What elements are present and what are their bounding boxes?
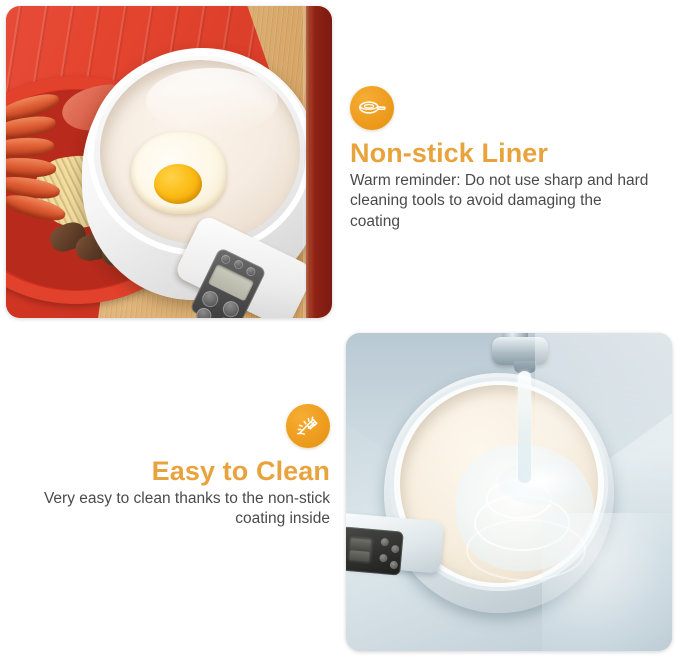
control-button	[390, 561, 399, 570]
control-button	[200, 288, 221, 309]
control-button	[391, 545, 400, 554]
sink-highlight	[535, 333, 672, 651]
control-button	[379, 554, 388, 563]
running-water-stream	[518, 371, 531, 483]
photo-nonstick-liner	[6, 6, 332, 318]
board-edge-highlight	[303, 6, 310, 318]
control-button	[380, 538, 389, 547]
product-feature-page: Non-stick Liner Warm reminder: Do not us…	[0, 0, 679, 659]
cleaning-brush-icon	[286, 404, 330, 448]
photo-easy-to-clean	[346, 333, 672, 651]
feature-block-non-stick-liner: Non-stick Liner Warm reminder: Do not us…	[350, 86, 650, 232]
frying-pan-icon	[350, 86, 394, 130]
pot-control-panel	[346, 526, 404, 575]
fried-egg-yolk	[154, 164, 202, 204]
lcd-display	[346, 535, 374, 565]
feature-description: Very easy to clean thanks to the non-sti…	[30, 489, 330, 529]
feature-title: Easy to Clean	[30, 456, 330, 486]
feature-description: Warm reminder: Do not use sharp and hard…	[350, 171, 650, 231]
control-button	[245, 266, 257, 278]
control-button	[233, 259, 245, 271]
control-button	[220, 299, 241, 318]
feature-title: Non-stick Liner	[350, 138, 650, 168]
liner-highlight	[146, 68, 278, 134]
control-button	[220, 253, 232, 265]
feature-block-easy-to-clean: Easy to Clean Very easy to clean thanks …	[30, 404, 330, 530]
